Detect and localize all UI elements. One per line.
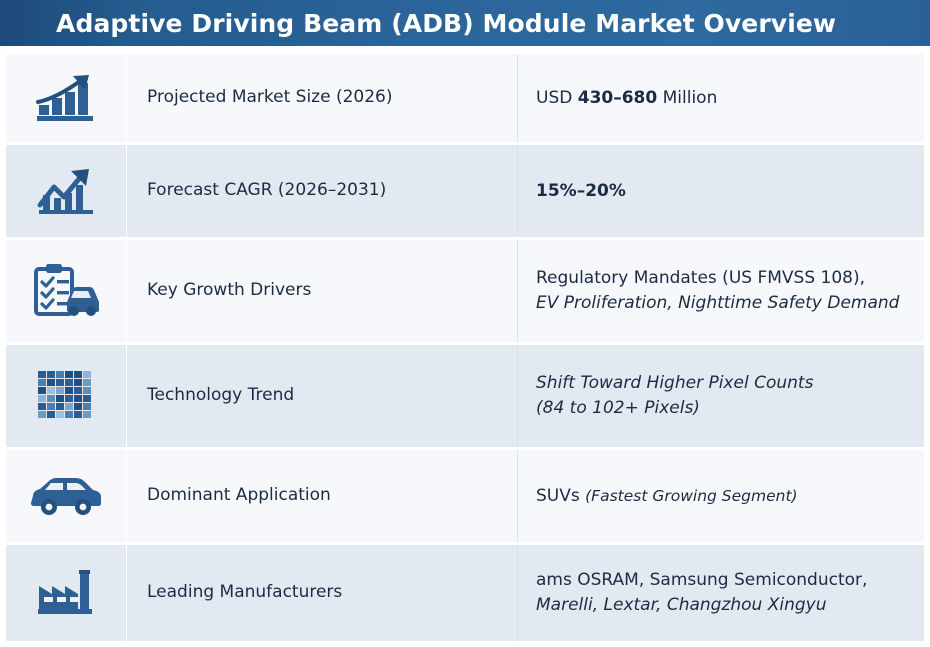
table-row: Dominant Application SUVs (Fastest Growi… (6, 450, 924, 542)
row-value-cell: SUVs (Fastest Growing Segment) (518, 450, 924, 542)
row-value-cell: 15%–20% (518, 145, 924, 237)
row-label: Forecast CAGR (2026–2031) (147, 180, 386, 201)
row-value-cell: Regulatory Mandates (US FMVSS 108),EV Pr… (518, 240, 924, 342)
row-value-cell: ams OSRAM, Samsung Semiconductor,Marelli… (518, 545, 924, 641)
page-title: Adaptive Driving Beam (ADB) Module Marke… (56, 9, 836, 38)
row-icon-cell (6, 345, 127, 447)
table-row: Forecast CAGR (2026–2031) 15%–20% (6, 145, 924, 237)
row-label-cell: Technology Trend (127, 345, 518, 447)
row-label: Key Growth Drivers (147, 280, 311, 301)
row-icon-cell (6, 545, 127, 641)
row-value: Regulatory Mandates (US FMVSS 108),EV Pr… (536, 266, 899, 315)
row-label: Projected Market Size (2026) (147, 87, 393, 108)
row-value: USD 430–680 Million (536, 86, 717, 111)
row-label: Technology Trend (147, 385, 294, 406)
row-icon-cell (6, 54, 127, 142)
header-banner: Adaptive Driving Beam (ADB) Module Marke… (0, 0, 930, 46)
row-value-cell: USD 430–680 Million (518, 54, 924, 142)
row-label: Leading Manufacturers (147, 582, 342, 603)
row-value-cell: Shift Toward Higher Pixel Counts(84 to 1… (518, 345, 924, 447)
row-label-cell: Leading Manufacturers (127, 545, 518, 641)
row-label-cell: Forecast CAGR (2026–2031) (127, 145, 518, 237)
suv-car-icon (29, 474, 103, 518)
table-row: Key Growth Drivers Regulatory Mandates (… (6, 240, 924, 342)
table-row: Technology Trend Shift Toward Higher Pix… (6, 345, 924, 447)
overview-table: Projected Market Size (2026) USD 430–680… (0, 50, 930, 647)
row-value: SUVs (Fastest Growing Segment) (536, 484, 798, 509)
line-chart-arrow-icon (35, 165, 97, 217)
pixel-grid-icon (37, 370, 95, 422)
row-value: Shift Toward Higher Pixel Counts(84 to 1… (536, 371, 813, 420)
factory-icon (35, 570, 97, 616)
table-row: Leading Manufacturers ams OSRAM, Samsung… (6, 545, 924, 641)
row-label-cell: Dominant Application (127, 450, 518, 542)
bar-chart-growth-icon (35, 72, 97, 124)
row-label: Dominant Application (147, 485, 331, 506)
row-label-cell: Key Growth Drivers (127, 240, 518, 342)
clipboard-car-icon (31, 262, 101, 320)
row-value: 15%–20% (536, 179, 626, 204)
row-icon-cell (6, 450, 127, 542)
table-row: Projected Market Size (2026) USD 430–680… (6, 54, 924, 142)
adb-market-overview-infographic: Adaptive Driving Beam (ADB) Module Marke… (0, 0, 930, 628)
row-label-cell: Projected Market Size (2026) (127, 54, 518, 142)
row-value: ams OSRAM, Samsung Semiconductor,Marelli… (536, 568, 867, 617)
row-icon-cell (6, 240, 127, 342)
row-icon-cell (6, 145, 127, 237)
